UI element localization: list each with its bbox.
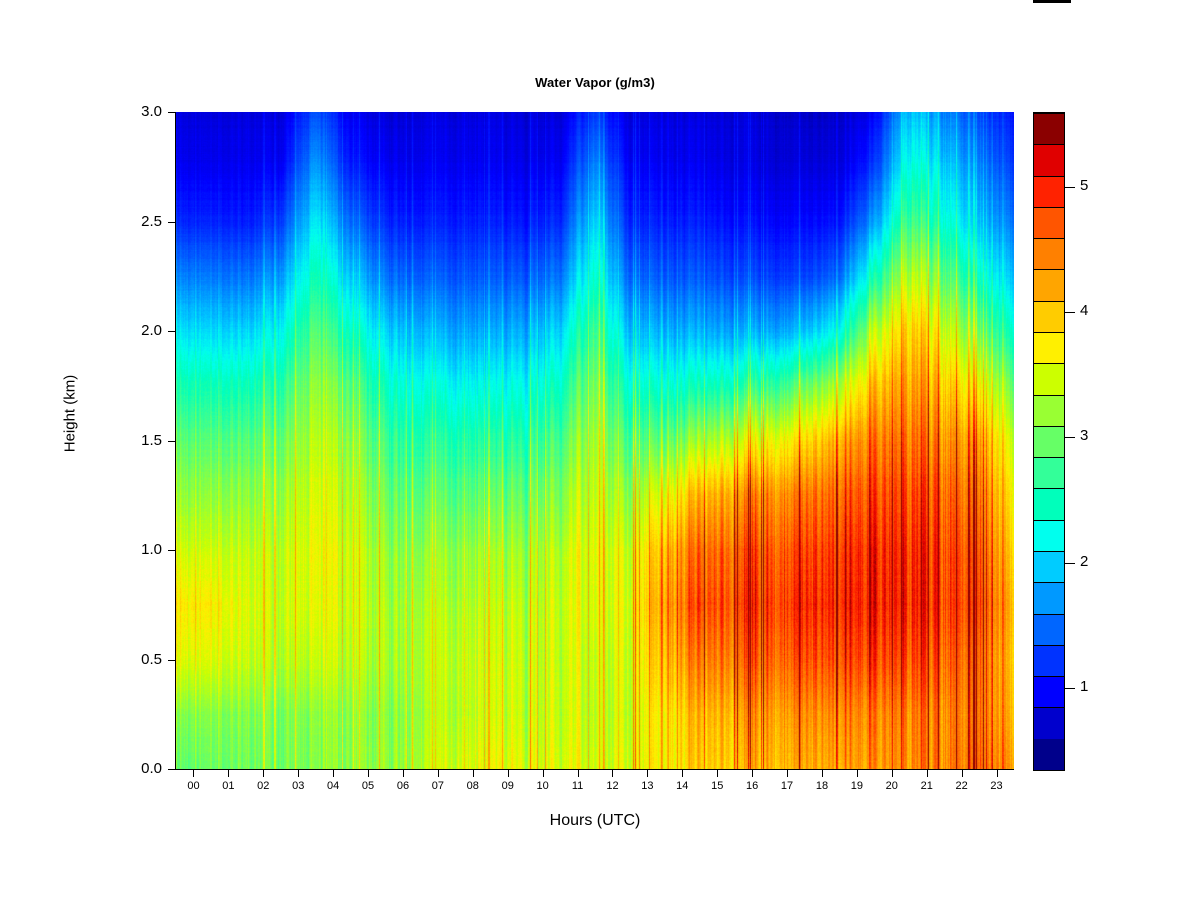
colorbar-bin: [1034, 207, 1064, 238]
colorbar: [1033, 112, 1065, 771]
colorbar-bin: [1034, 363, 1064, 394]
colorbar-bin: [1034, 520, 1064, 551]
y-tick-label: 0.0: [114, 760, 162, 777]
colorbar-tick-mark: [1064, 187, 1075, 188]
x-tick-mark: [543, 770, 544, 777]
y-tick-label: 3.0: [114, 103, 162, 120]
y-axis-title: Height (km): [62, 324, 79, 504]
colorbar-tick-mark: [1064, 563, 1075, 564]
x-tick-mark: [403, 770, 404, 777]
x-tick-label: 21: [912, 780, 942, 792]
x-tick-label: 02: [248, 780, 278, 792]
x-tick-label: 09: [493, 780, 523, 792]
y-tick-mark: [168, 550, 176, 551]
y-tick-mark: [168, 222, 176, 223]
y-tick-mark: [168, 331, 176, 332]
x-tick-label: 16: [737, 780, 767, 792]
x-tick-mark: [822, 770, 823, 777]
x-tick-label: 00: [178, 780, 208, 792]
y-tick-label: 1.0: [114, 541, 162, 558]
colorbar-bin: [1034, 582, 1064, 613]
x-tick-mark: [752, 770, 753, 777]
colorbar-bin: [1034, 551, 1064, 582]
colorbar-bin: [1034, 332, 1064, 363]
colorbar-bin: [1034, 707, 1064, 738]
x-axis-line: [176, 769, 1014, 770]
x-tick-mark: [263, 770, 264, 777]
x-axis-title: Hours (UTC): [176, 812, 1014, 830]
x-tick-mark: [473, 770, 474, 777]
x-tick-mark: [857, 770, 858, 777]
colorbar-tick-label: 1: [1080, 678, 1088, 695]
x-tick-label: 13: [632, 780, 662, 792]
y-tick-label: 2.5: [114, 213, 162, 230]
x-tick-label: 06: [388, 780, 418, 792]
x-tick-mark: [787, 770, 788, 777]
colorbar-tick-label: 3: [1080, 427, 1088, 444]
y-tick-label: 0.5: [114, 651, 162, 668]
x-tick-label: 01: [213, 780, 243, 792]
colorbar-bin: [1034, 676, 1064, 707]
colorbar-bin: [1034, 176, 1064, 207]
x-tick-label: 10: [528, 780, 558, 792]
colorbar-tick-mark: [1064, 312, 1075, 313]
x-tick-mark: [193, 770, 194, 777]
x-tick-label: 12: [597, 780, 627, 792]
chart-title: Water Vapor (g/m3): [176, 75, 1014, 90]
x-tick-label: 07: [423, 780, 453, 792]
colorbar-bin: [1034, 113, 1064, 144]
x-tick-label: 19: [842, 780, 872, 792]
x-tick-label: 23: [982, 780, 1012, 792]
x-tick-label: 15: [702, 780, 732, 792]
colorbar-tick-mark: [1064, 437, 1075, 438]
x-tick-label: 03: [283, 780, 313, 792]
y-tick-mark: [168, 441, 176, 442]
y-axis-tick-labels: 0.00.51.01.52.02.53.0: [110, 0, 162, 900]
x-tick-mark: [682, 770, 683, 777]
x-tick-label: 22: [947, 780, 977, 792]
colorbar-tick-label: 5: [1080, 177, 1088, 194]
y-tick-mark: [168, 112, 176, 113]
colorbar-tick-label: 2: [1080, 553, 1088, 570]
water-vapor-time-height-figure: Water Vapor (g/m3) 0.00.51.01.52.02.53.0…: [0, 0, 1200, 900]
x-tick-mark: [228, 770, 229, 777]
colorbar-bin: [1034, 645, 1064, 676]
x-tick-label: 05: [353, 780, 383, 792]
x-tick-mark: [438, 770, 439, 777]
heatmap-canvas: [176, 112, 1014, 769]
x-tick-mark: [612, 770, 613, 777]
x-tick-mark: [333, 770, 334, 777]
colorbar-bin: [1034, 457, 1064, 488]
x-tick-label: 14: [667, 780, 697, 792]
x-tick-mark: [892, 770, 893, 777]
x-tick-mark: [368, 770, 369, 777]
x-tick-mark: [508, 770, 509, 777]
y-tick-label: 2.0: [114, 322, 162, 339]
heatmap-plot-area: [176, 112, 1014, 769]
colorbar-tick-label: 4: [1080, 302, 1088, 319]
y-tick-mark: [168, 769, 176, 770]
x-tick-mark: [647, 770, 648, 777]
colorbar-bin: [1034, 395, 1064, 426]
x-tick-mark: [962, 770, 963, 777]
y-tick-label: 1.5: [114, 432, 162, 449]
x-tick-mark: [717, 770, 718, 777]
x-tick-mark: [927, 770, 928, 777]
colorbar-bin: [1034, 301, 1064, 332]
y-tick-mark: [168, 660, 176, 661]
colorbar-bin: [1034, 269, 1064, 300]
colorbar-bin: [1034, 426, 1064, 457]
x-tick-mark: [997, 770, 998, 777]
top-edge-artifact: [1033, 0, 1071, 3]
colorbar-bin: [1034, 488, 1064, 519]
colorbar-bin: [1034, 238, 1064, 269]
x-tick-label: 18: [807, 780, 837, 792]
x-tick-label: 20: [877, 780, 907, 792]
x-tick-label: 04: [318, 780, 348, 792]
x-tick-label: 08: [458, 780, 488, 792]
colorbar-bin: [1034, 614, 1064, 645]
x-tick-label: 11: [563, 780, 593, 792]
colorbar-bin: [1034, 144, 1064, 175]
x-tick-mark: [298, 770, 299, 777]
x-tick-mark: [578, 770, 579, 777]
colorbar-tick-mark: [1064, 688, 1075, 689]
colorbar-bin: [1034, 739, 1064, 770]
x-tick-label: 17: [772, 780, 802, 792]
